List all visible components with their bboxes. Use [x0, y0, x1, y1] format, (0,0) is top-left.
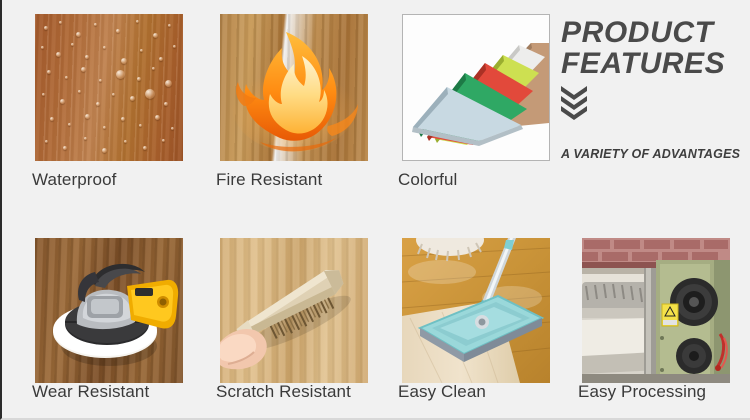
feature-image-colorful [402, 14, 550, 161]
feature-image-easy-clean [402, 238, 550, 383]
factory-machine-icon [582, 238, 730, 383]
page-title: PRODUCT FEATURES [561, 17, 725, 79]
feature-label-wear-resistant: Wear Resistant [32, 382, 149, 402]
feature-label-colorful: Colorful [398, 170, 457, 190]
feature-label-scratch-resistant: Scratch Resistant [216, 382, 351, 402]
feature-label-easy-clean: Easy Clean [398, 382, 486, 402]
wire-brush-icon [220, 238, 368, 383]
color-panel-fan-icon [403, 15, 549, 160]
feature-image-easy-processing [582, 238, 730, 383]
water-droplets-icon [35, 14, 183, 161]
mop-on-floor-icon [402, 238, 550, 383]
feature-image-wear-resistant [35, 238, 183, 383]
feature-image-fire-resistant [220, 14, 368, 161]
feature-image-scratch-resistant [220, 238, 368, 383]
polisher-icon [35, 238, 183, 383]
feature-label-waterproof: Waterproof [32, 170, 116, 190]
page-subtitle: A VARIETY OF ADVANTAGES [561, 147, 740, 161]
feature-image-waterproof [35, 14, 183, 161]
feature-label-easy-processing: Easy Processing [578, 382, 706, 402]
product-features-banner: Waterproof [2, 0, 750, 418]
chevron-down-icon-group [560, 84, 588, 125]
feature-label-fire-resistant: Fire Resistant [216, 170, 322, 190]
flame-icon [220, 14, 368, 161]
